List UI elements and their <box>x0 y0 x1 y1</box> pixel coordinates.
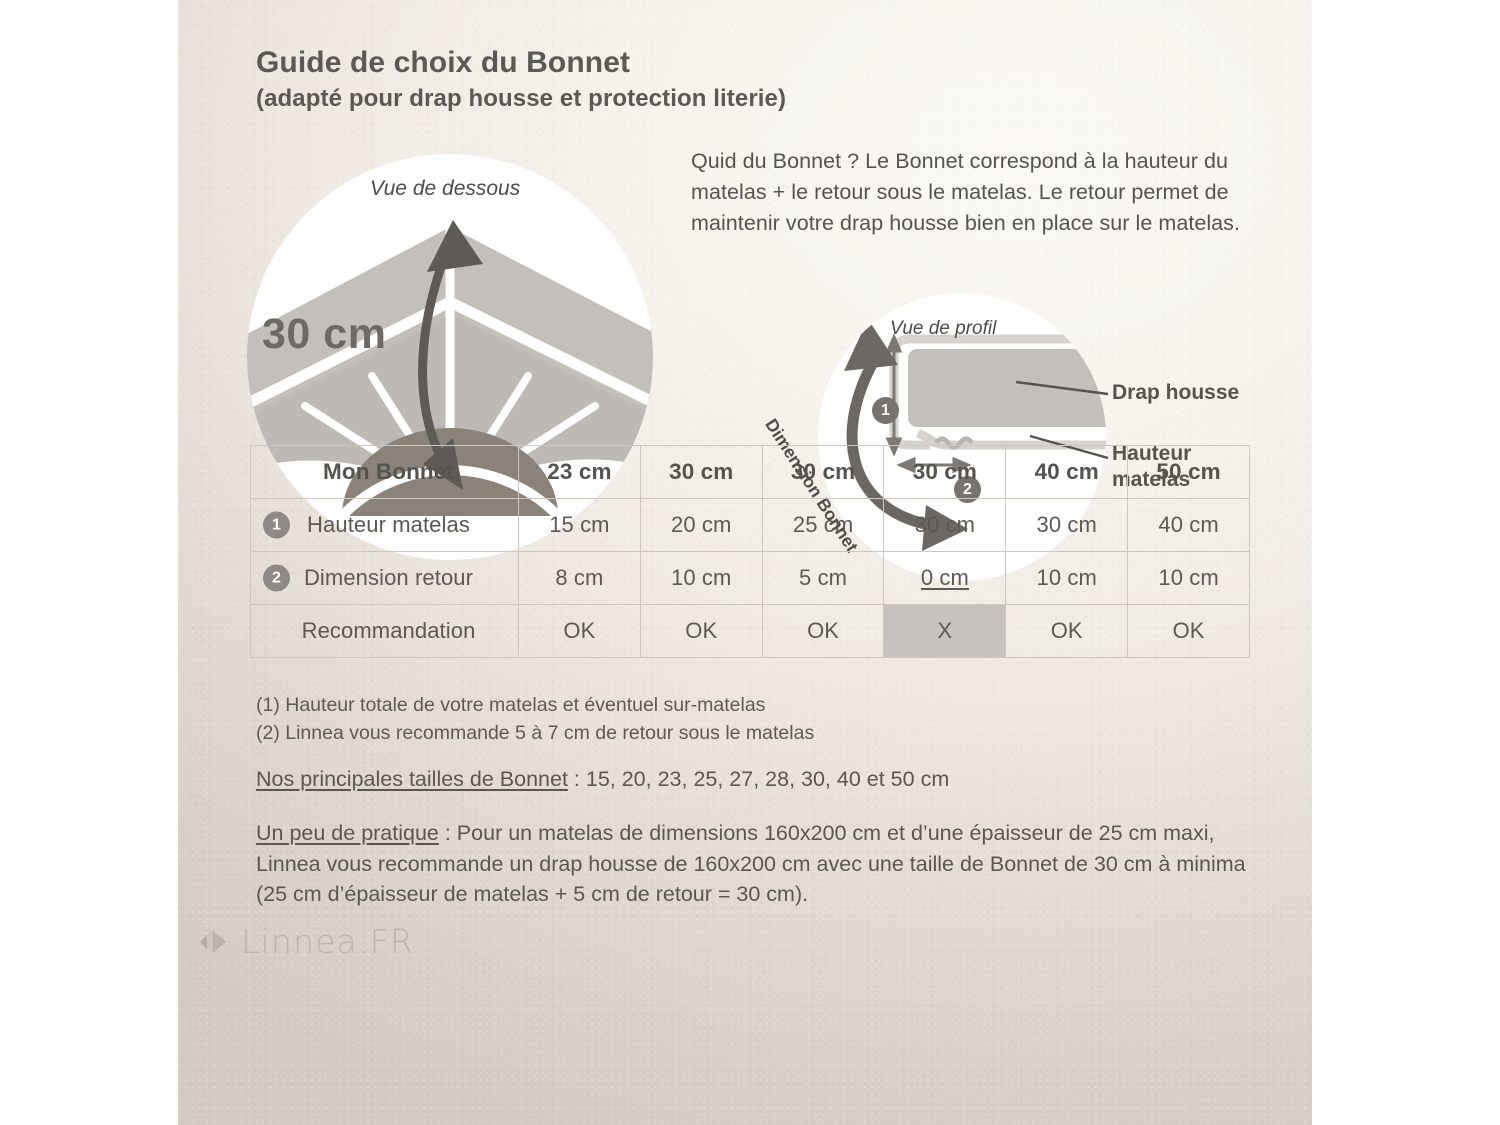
table-row-label: Mon Bonnet <box>251 446 519 499</box>
table-cell: 40 cm <box>1006 446 1128 499</box>
table-cell: 40 cm <box>1128 499 1250 552</box>
brand-logo[interactable]: Linnea.FR <box>198 922 414 961</box>
table-cell: 30 cm <box>640 446 762 499</box>
table-row: 2Dimension retour8 cm10 cm5 cm0 cm10 cm1… <box>251 552 1250 605</box>
table-row-label: 2Dimension retour <box>251 552 519 605</box>
practice-label: Un peu de pratique <box>256 821 439 845</box>
footnotes: (1) Hauteur totale de votre matelas et é… <box>256 692 814 747</box>
row-label-text: Recommandation <box>288 618 476 644</box>
row-label-text: Hauteur matelas <box>293 512 470 538</box>
table-cell: 10 cm <box>1128 552 1250 605</box>
profile-badge-1: 1 <box>872 397 899 424</box>
table-cell: OK <box>519 605 641 658</box>
table-cell: 20 cm <box>640 499 762 552</box>
table-cell: OK <box>640 605 762 658</box>
table-cell: 30 cm <box>884 446 1006 499</box>
table-cell: X <box>884 605 1006 658</box>
table-row: Mon Bonnet23 cm30 cm30 cm30 cm40 cm50 cm <box>251 446 1250 499</box>
table-cell: OK <box>1006 605 1128 658</box>
table-cell: 8 cm <box>519 552 641 605</box>
linnea-diamond-icon <box>198 929 228 955</box>
table-cell: OK <box>762 605 884 658</box>
row-badge-1: 1 <box>263 512 290 539</box>
table-cell: 0 cm <box>884 552 1006 605</box>
table-row-label: 1Hauteur matelas <box>251 499 519 552</box>
table-cell: OK <box>1128 605 1250 658</box>
intro-paragraph: Quid du Bonnet ? Le Bonnet correspond à … <box>691 146 1281 239</box>
footnote-2: (2) Linnea vous recommande 5 à 7 cm de r… <box>256 720 814 748</box>
bonnet-table-wrap: Mon Bonnet23 cm30 cm30 cm30 cm40 cm50 cm… <box>250 445 1250 658</box>
logo-text: Linnea.FR <box>241 922 414 961</box>
footnote-1: (1) Hauteur totale de votre matelas et é… <box>256 692 814 720</box>
available-sizes-label: Nos principales tailles de Bonnet <box>256 767 568 791</box>
table-cell: 5 cm <box>762 552 884 605</box>
table-cell: 10 cm <box>640 552 762 605</box>
bottom-view-caption: Vue de dessous <box>370 177 520 201</box>
infographic-canvas: Guide de choix du Bonnet (adapté pour dr… <box>0 0 1500 1125</box>
table-row: RecommandationOKOKOKXOKOK <box>251 605 1250 658</box>
bonnet-measure-label: 30 cm <box>262 310 386 359</box>
page-title-block: Guide de choix du Bonnet (adapté pour dr… <box>256 46 786 114</box>
available-sizes-value: : 15, 20, 23, 25, 27, 28, 30, 40 et 50 c… <box>568 767 949 791</box>
table-cell: 30 cm <box>762 446 884 499</box>
callout-drap-housse: Drap housse <box>1112 381 1239 405</box>
bonnet-table: Mon Bonnet23 cm30 cm30 cm30 cm40 cm50 cm… <box>250 445 1250 658</box>
table-cell: 30 cm <box>1006 499 1128 552</box>
table-cell: 23 cm <box>519 446 641 499</box>
row-label-text: Dimension retour <box>290 565 473 591</box>
profile-view-caption: Vue de profil <box>890 318 996 340</box>
row-badge-2: 2 <box>263 565 290 592</box>
table-cell: 10 cm <box>1006 552 1128 605</box>
available-sizes-line: Nos principales tailles de Bonnet : 15, … <box>256 764 949 794</box>
row-label-text: Mon Bonnet <box>309 459 454 485</box>
table-row: 1Hauteur matelas15 cm20 cm25 cm30 cm30 c… <box>251 499 1250 552</box>
table-cell: 15 cm <box>519 499 641 552</box>
artwork-area: Guide de choix du Bonnet (adapté pour dr… <box>178 0 1312 1125</box>
table-cell: 30 cm <box>884 499 1006 552</box>
cell-value-underlined: 0 cm <box>921 565 969 590</box>
practice-paragraph: Un peu de pratique : Pour un matelas de … <box>256 818 1266 910</box>
table-row-label: Recommandation <box>251 605 519 658</box>
page-title: Guide de choix du Bonnet <box>256 46 786 81</box>
table-cell: 25 cm <box>762 499 884 552</box>
page-subtitle: (adapté pour drap housse et protection l… <box>256 85 786 114</box>
table-cell: 50 cm <box>1128 446 1250 499</box>
